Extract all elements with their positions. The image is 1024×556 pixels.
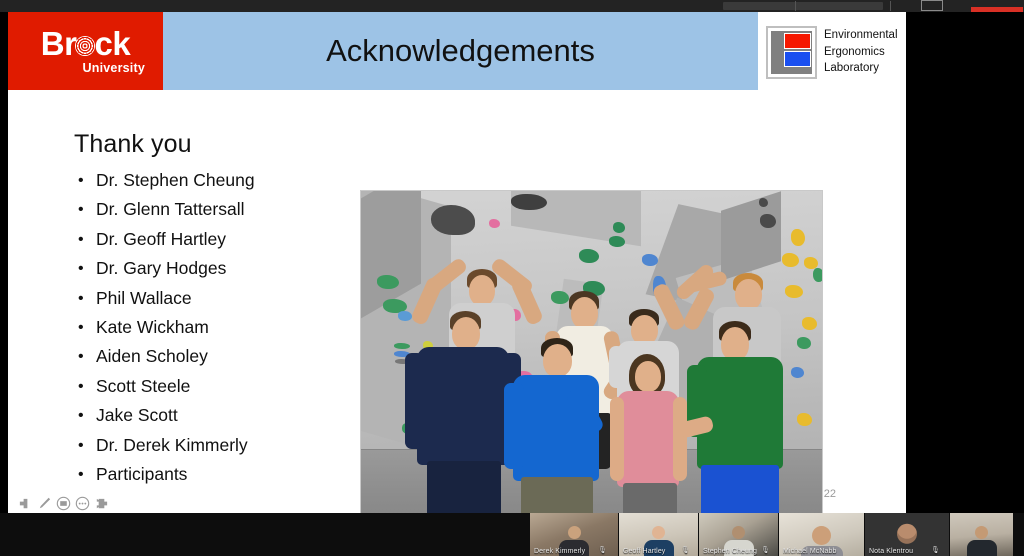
window-chrome [0,0,1024,12]
list-item: Dr. Stephen Cheung [74,166,359,195]
toolbar-divider [795,1,796,11]
eel-logo-text: Environmental Ergonomics Laboratory [824,28,898,76]
video-participant-strip: Derek Kimmerly 🎙 Geoff Hartley 🎙 Stephen… [0,513,1024,556]
video-tile[interactable] [950,513,1014,556]
list-item: Phil Wallace [74,284,359,313]
thumbprint-icon [75,36,95,56]
eel-logo-mark [766,26,817,79]
slide-number: 22 [824,488,836,500]
presenter-toolbar [16,493,106,513]
maximize-button[interactable] [921,0,943,11]
toolbar-divider [890,1,891,11]
mic-muted-icon: 🎙 [598,546,607,554]
mic-muted-icon: 🎙 [931,546,940,554]
list-item: Dr. Geoff Hartley [74,225,359,254]
brock-subtitle: University [83,61,145,75]
slide-body: Thank you Dr. Stephen Cheung Dr. Glenn T… [8,90,906,513]
thank-you-heading: Thank you [74,130,192,159]
video-tile[interactable]: Stephen Cheung 🎙 [699,513,779,556]
list-item: Dr. Derek Kimmerly [74,431,359,460]
slide-header: Br ck University Acknowledgements Enviro… [8,12,906,90]
screen-share-window: Br ck University Acknowledgements Enviro… [0,0,1024,556]
group-photo [360,190,823,513]
participant-figure [967,526,997,556]
ellipsis-icon[interactable] [75,496,90,511]
pen-icon[interactable] [37,496,52,511]
participant-name: Michael McNabb [783,548,837,555]
mic-muted-icon: 🎙 [761,546,770,554]
list-item: Kate Wickham [74,313,359,342]
acknowledgements-list: Dr. Stephen Cheung Dr. Glenn Tattersall … [74,166,359,489]
list-item: Aiden Scholey [74,342,359,371]
list-item: Participants [74,460,359,489]
participant-name: Nota Klentrou [869,548,913,555]
strip-empty-area [0,513,530,556]
brock-text-ck: ck [94,27,130,60]
brock-wordmark: Br ck [41,27,130,60]
screen-icon[interactable] [56,496,71,511]
previous-slide-icon[interactable] [18,496,33,511]
list-item: Dr. Glenn Tattersall [74,195,359,224]
eel-line-2: Ergonomics [824,45,898,60]
participant-name: Geoff Hartley [623,548,665,555]
slide-title: Acknowledgements [163,12,758,90]
video-tile[interactable]: Derek Kimmerly 🎙 [530,513,619,556]
video-tile[interactable]: Michael McNabb [779,513,865,556]
search-box[interactable] [723,2,883,10]
mic-muted-icon: 🎙 [681,546,690,554]
list-item: Jake Scott [74,401,359,430]
next-slide-icon[interactable] [94,496,109,511]
record-indicator [971,7,1023,12]
list-item: Scott Steele [74,372,359,401]
participant-name: Stephen Cheung [703,548,757,555]
environmental-ergonomics-laboratory-logo: Environmental Ergonomics Laboratory [766,24,898,80]
participant-name: Derek Kimmerly [534,548,585,555]
eel-line-3: Laboratory [824,61,898,76]
list-item: Dr. Gary Hodges [74,254,359,283]
avatar [897,523,917,543]
presentation-slide: Br ck University Acknowledgements Enviro… [8,12,906,513]
video-tile[interactable]: Geoff Hartley 🎙 [619,513,699,556]
red-swatch [784,33,811,49]
video-tile[interactable]: Nota Klentrou 🎙 [865,513,950,556]
eel-line-1: Environmental [824,28,898,43]
brock-university-logo: Br ck University [8,12,163,90]
blue-swatch [784,51,811,67]
brock-text-br: Br [41,27,77,60]
